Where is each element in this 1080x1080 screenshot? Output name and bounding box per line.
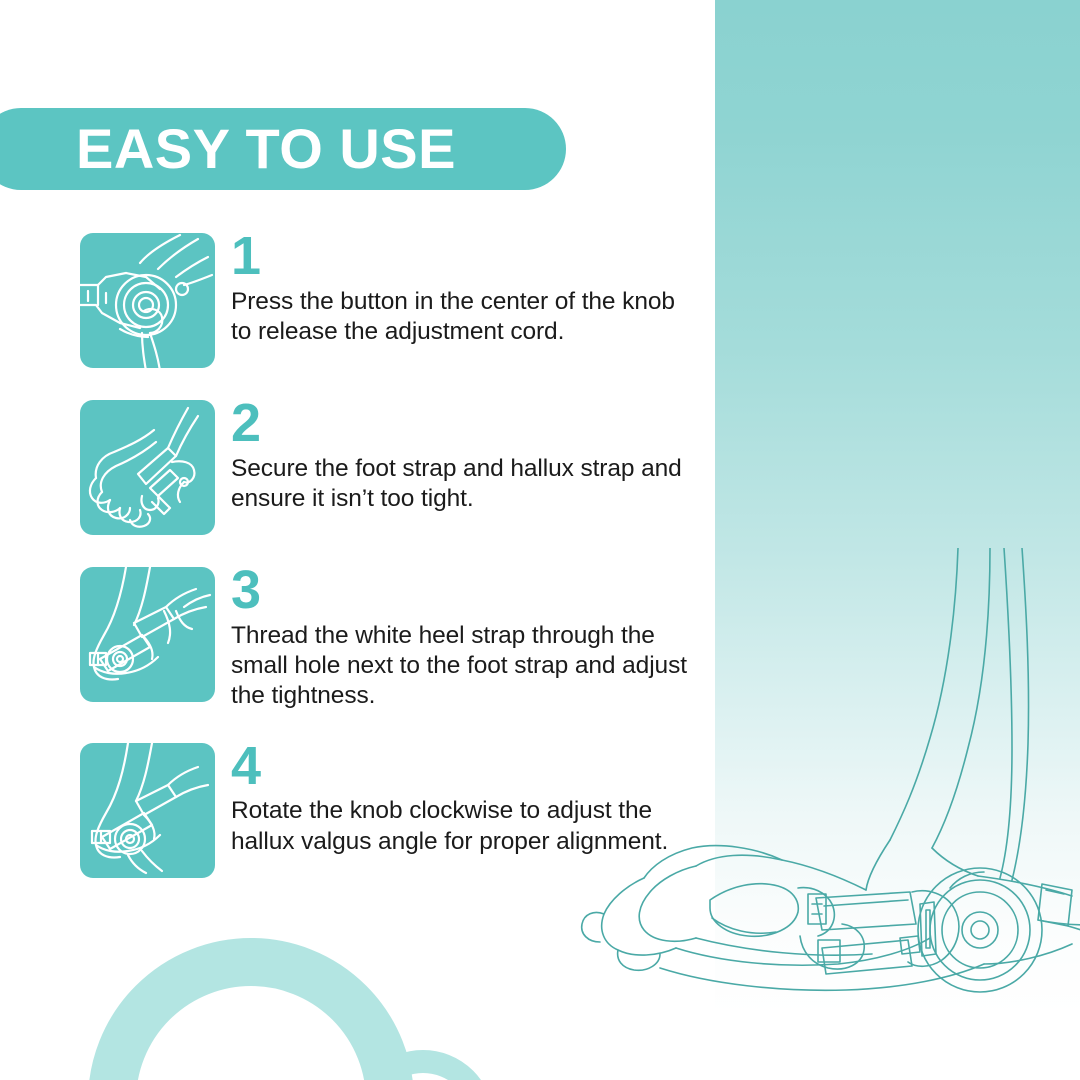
step-text-2: Secure the foot strap and hallux strap a… [231, 454, 700, 514]
step-item-2: 2 Secure the foot strap and hallux strap… [80, 400, 700, 535]
step-content-4: 4 Rotate the knob clockwise to adjust th… [231, 743, 700, 857]
product-infographic: BUNION CORRECTOR EASY TO USE [0, 0, 1080, 1080]
large-ring-decoration [88, 938, 414, 1080]
secure-foot-strap-illustration [80, 400, 215, 535]
steps-list: 1 Press the button in the center of the … [80, 233, 700, 878]
page-title: EASY TO USE [76, 121, 456, 177]
step-number-4: 4 [231, 743, 700, 791]
step-content-2: 2 Secure the foot strap and hallux strap… [231, 400, 700, 514]
rotate-knob-illustration [80, 743, 215, 878]
step-text-4: Rotate the knob clockwise to adjust the … [231, 796, 700, 856]
header-banner: EASY TO USE [0, 108, 566, 190]
step-content-3: 3 Thread the white heel strap through th… [231, 567, 700, 711]
press-knob-button-illustration [80, 233, 215, 368]
step-item-4: 4 Rotate the knob clockwise to adjust th… [80, 743, 700, 878]
step-item-1: 1 Press the button in the center of the … [80, 233, 700, 368]
step-content-1: 1 Press the button in the center of the … [231, 233, 700, 347]
step-number-1: 1 [231, 233, 700, 281]
step-text-3: Thread the white heel strap through the … [231, 621, 700, 711]
thread-heel-strap-illustration [80, 567, 215, 702]
step-item-3: 3 Thread the white heel strap through th… [80, 567, 700, 711]
step-number-2: 2 [231, 400, 700, 448]
step-text-1: Press the button in the center of the kn… [231, 287, 700, 347]
brand-panel: BUNION CORRECTOR [715, 0, 1080, 1080]
step-number-3: 3 [231, 567, 700, 615]
